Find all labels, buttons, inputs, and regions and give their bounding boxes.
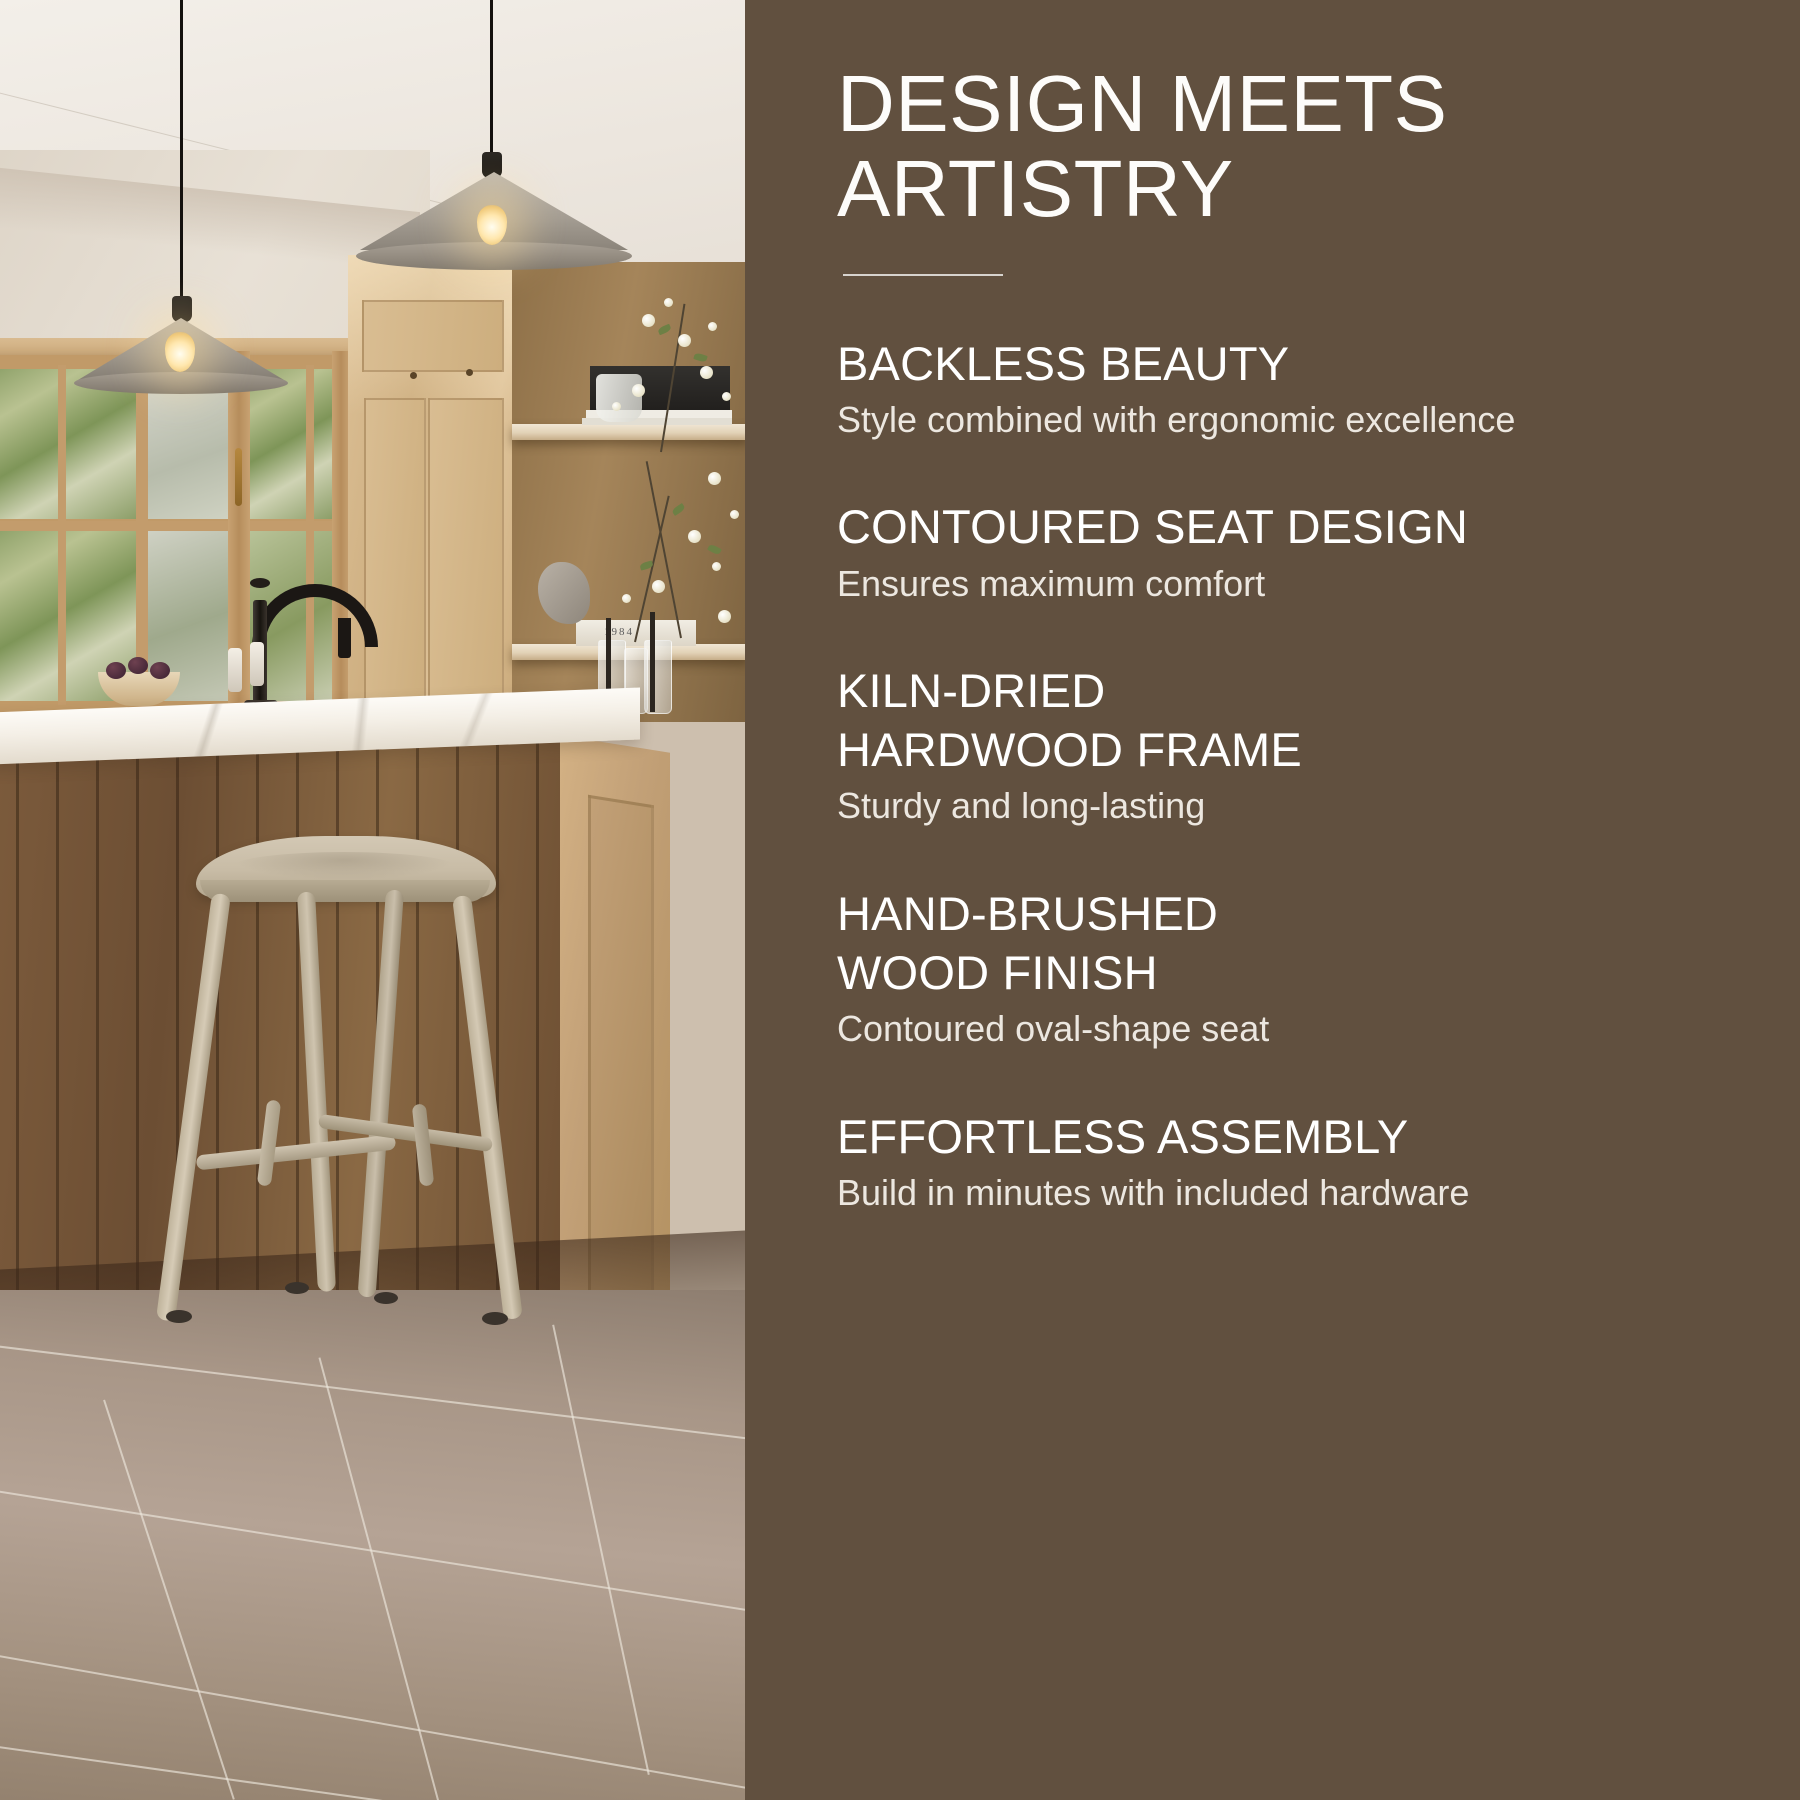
pendant-shade-rim <box>356 242 632 270</box>
window-pane <box>246 369 332 519</box>
window-mullion <box>136 365 148 705</box>
stool-foot <box>482 1312 508 1325</box>
stool-foot <box>285 1282 309 1294</box>
blossom-flower <box>718 610 731 623</box>
leaf <box>707 543 722 555</box>
feature-title: CONTOURED SEAT DESIGN <box>837 497 1730 556</box>
pendant-shade-rim <box>74 372 288 394</box>
window-mullion <box>0 521 236 531</box>
feature-title: HAND-BRUSHED WOOD FINISH <box>837 884 1730 1002</box>
window-mullion <box>244 521 336 531</box>
cabinet-upper-panel <box>362 300 504 372</box>
cabinet-door-panel[interactable] <box>428 398 504 712</box>
door-handle[interactable] <box>235 448 242 506</box>
feature-subtitle: Sturdy and long-lasting <box>837 785 1527 827</box>
cabinet-door-panel[interactable] <box>364 398 426 712</box>
infographic-page: 1984 <box>0 0 1800 1800</box>
window-mullion <box>306 365 314 705</box>
title-divider <box>843 274 1003 276</box>
reed-diffuser-stick <box>650 612 655 712</box>
blossom-flower <box>722 392 731 401</box>
ceramic-vase <box>596 374 642 422</box>
feature-subtitle: Build in minutes with included hardware <box>837 1172 1527 1214</box>
blossom-flower <box>632 384 645 397</box>
blossom-flower <box>622 594 631 603</box>
fruit <box>106 662 126 679</box>
blossom-flower <box>678 334 691 347</box>
feature-subtitle: Ensures maximum comfort <box>837 563 1527 605</box>
stool-seat-edge <box>200 880 490 902</box>
blossom-flower <box>708 472 721 485</box>
feature-subtitle: Style combined with ergonomic excellence <box>837 399 1527 441</box>
blossom-flower <box>730 510 739 519</box>
faucet-cap <box>250 578 270 588</box>
blossom-flower <box>712 562 721 571</box>
leaf <box>671 503 686 516</box>
pendant-canopy <box>172 296 192 322</box>
stool-foot <box>166 1310 192 1323</box>
glass-bottle <box>644 640 672 714</box>
page-title: DESIGN MEETS ARTISTRY <box>837 62 1730 232</box>
feature-block-5: EFFORTLESS ASSEMBLY Build in minutes wit… <box>837 1107 1730 1215</box>
blossom-flower <box>612 402 621 411</box>
feature-title: KILN-DRIED HARDWOOD FRAME <box>837 661 1730 779</box>
feature-block-3: KILN-DRIED HARDWOOD FRAME Sturdy and lon… <box>837 661 1730 828</box>
tile-floor <box>0 1290 745 1800</box>
feature-title: BACKLESS BEAUTY <box>837 334 1730 393</box>
cabinet-knob-icon[interactable] <box>410 372 417 379</box>
leaf <box>693 352 708 363</box>
pendant-cord <box>490 0 493 160</box>
blossom-flower <box>708 322 717 331</box>
decor-stone <box>538 562 590 624</box>
feature-title: EFFORTLESS ASSEMBLY <box>837 1107 1730 1166</box>
pendant-cord <box>180 0 183 300</box>
blossom-flower <box>688 530 701 543</box>
blossom-flower <box>652 580 665 593</box>
stool-seat-contour <box>234 852 454 880</box>
feature-block-2: CONTOURED SEAT DESIGN Ensures maximum co… <box>837 497 1730 605</box>
feature-block-1: BACKLESS BEAUTY Style combined with ergo… <box>837 334 1730 442</box>
blossom-flower <box>664 298 673 307</box>
french-doors <box>0 355 348 715</box>
blossom-flower <box>700 366 713 379</box>
leaf <box>657 324 672 336</box>
feature-subtitle: Contoured oval-shape seat <box>837 1008 1527 1050</box>
faucet-handle[interactable] <box>250 642 264 686</box>
faucet-handle[interactable] <box>228 648 242 692</box>
fruit <box>150 662 170 679</box>
faucet-spout <box>338 618 351 658</box>
fruit <box>128 657 148 674</box>
feature-block-4: HAND-BRUSHED WOOD FINISH Contoured oval-… <box>837 884 1730 1051</box>
stool-foot <box>374 1292 398 1304</box>
shelf <box>512 424 745 440</box>
feature-list-panel: DESIGN MEETS ARTISTRY BACKLESS BEAUTY St… <box>745 0 1800 1800</box>
blossom-flower <box>642 314 655 327</box>
product-lifestyle-photo: 1984 <box>0 0 745 1800</box>
cabinet-knob-icon[interactable] <box>466 369 473 376</box>
window-mullion <box>58 365 66 705</box>
